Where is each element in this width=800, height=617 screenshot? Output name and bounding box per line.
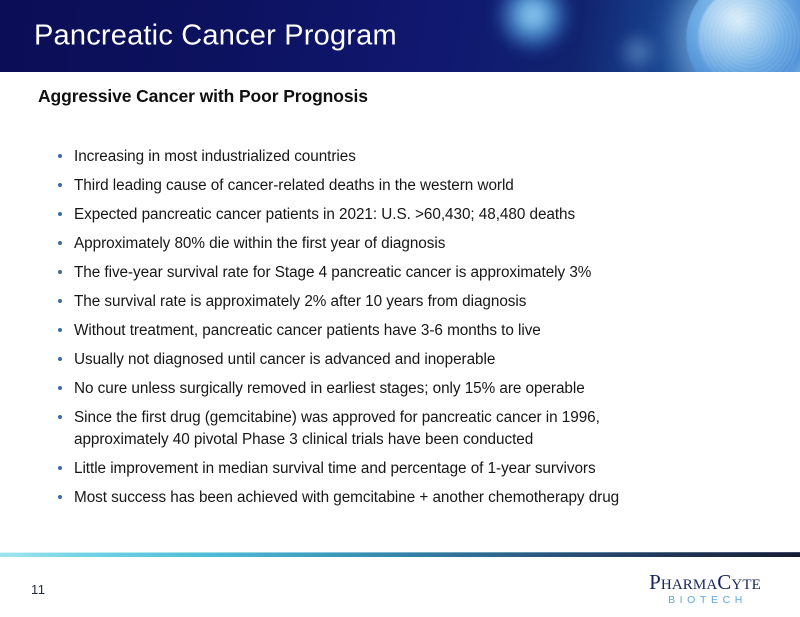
bullet-dot-icon — [58, 299, 62, 303]
bullet-dot-icon — [58, 466, 62, 470]
list-item-label: Most success has been achieved with gemc… — [74, 487, 619, 509]
list-item: Little improvement in median survival ti… — [56, 458, 776, 480]
bullet-dot-icon — [58, 183, 62, 187]
bullet-dot-icon — [58, 495, 62, 499]
list-item: Third leading cause of cancer-related de… — [56, 175, 776, 197]
footer-divider — [0, 553, 800, 557]
page-title: Pancreatic Cancer Program — [34, 22, 397, 51]
bullet-dot-icon — [58, 241, 62, 245]
list-item-label: Expected pancreatic cancer patients in 2… — [74, 204, 575, 226]
list-item: Without treatment, pancreatic cancer pat… — [56, 320, 776, 342]
list-item-label: Since the first drug (gemcitabine) was a… — [74, 407, 600, 450]
list-item: Expected pancreatic cancer patients in 2… — [56, 204, 776, 226]
bullet-dot-icon — [58, 212, 62, 216]
list-item: Most success has been achieved with gemc… — [56, 487, 776, 509]
list-item: No cure unless surgically removed in ear… — [56, 378, 776, 400]
list-item: The survival rate is approximately 2% af… — [56, 291, 776, 313]
list-item-label: Without treatment, pancreatic cancer pat… — [74, 320, 541, 342]
page-number: 11 — [31, 582, 46, 597]
list-item-label: The five-year survival rate for Stage 4 … — [74, 262, 591, 284]
bullet-dot-icon — [58, 270, 62, 274]
list-item: The five-year survival rate for Stage 4 … — [56, 262, 776, 284]
bullet-dot-icon — [58, 415, 62, 419]
list-item-label: Usually not diagnosed until cancer is ad… — [74, 349, 495, 371]
list-item-line-2: approximately 40 pivotal Phase 3 clinica… — [74, 429, 600, 451]
list-item: Increasing in most industrialized countr… — [56, 146, 776, 168]
list-item-label: Third leading cause of cancer-related de… — [74, 175, 514, 197]
list-item-label: Little improvement in median survival ti… — [74, 458, 596, 480]
slide-subtitle: Aggressive Cancer with Poor Prognosis — [38, 86, 368, 107]
list-item-label: Increasing in most industrialized countr… — [74, 146, 356, 168]
cell-glow-small-icon — [496, 0, 570, 52]
bullet-dot-icon — [58, 328, 62, 332]
list-item-line-1: Since the first drug (gemcitabine) was a… — [74, 409, 600, 426]
list-item: Since the first drug (gemcitabine) was a… — [56, 407, 776, 450]
list-item: Approximately 80% die within the first y… — [56, 233, 776, 255]
list-item: Usually not diagnosed until cancer is ad… — [56, 349, 776, 371]
slide-header-banner: Pancreatic Cancer Program — [0, 0, 800, 72]
logo-wordmark: PharmaCyte — [634, 572, 776, 593]
cell-sphere-large-icon — [686, 0, 800, 72]
list-item-label: The survival rate is approximately 2% af… — [74, 291, 526, 313]
logo-tagline: BIOTECH — [634, 594, 776, 606]
list-item-label: No cure unless surgically removed in ear… — [74, 378, 585, 400]
bullet-list: Increasing in most industrialized countr… — [56, 146, 776, 516]
bullet-dot-icon — [58, 357, 62, 361]
cell-glow-faint-icon — [616, 30, 660, 72]
bullet-dot-icon — [58, 386, 62, 390]
company-logo: PharmaCyte BIOTECH — [634, 572, 776, 606]
bullet-dot-icon — [58, 154, 62, 158]
slide: Pancreatic Cancer Program Aggressive Can… — [0, 0, 800, 617]
list-item-label: Approximately 80% die within the first y… — [74, 233, 445, 255]
